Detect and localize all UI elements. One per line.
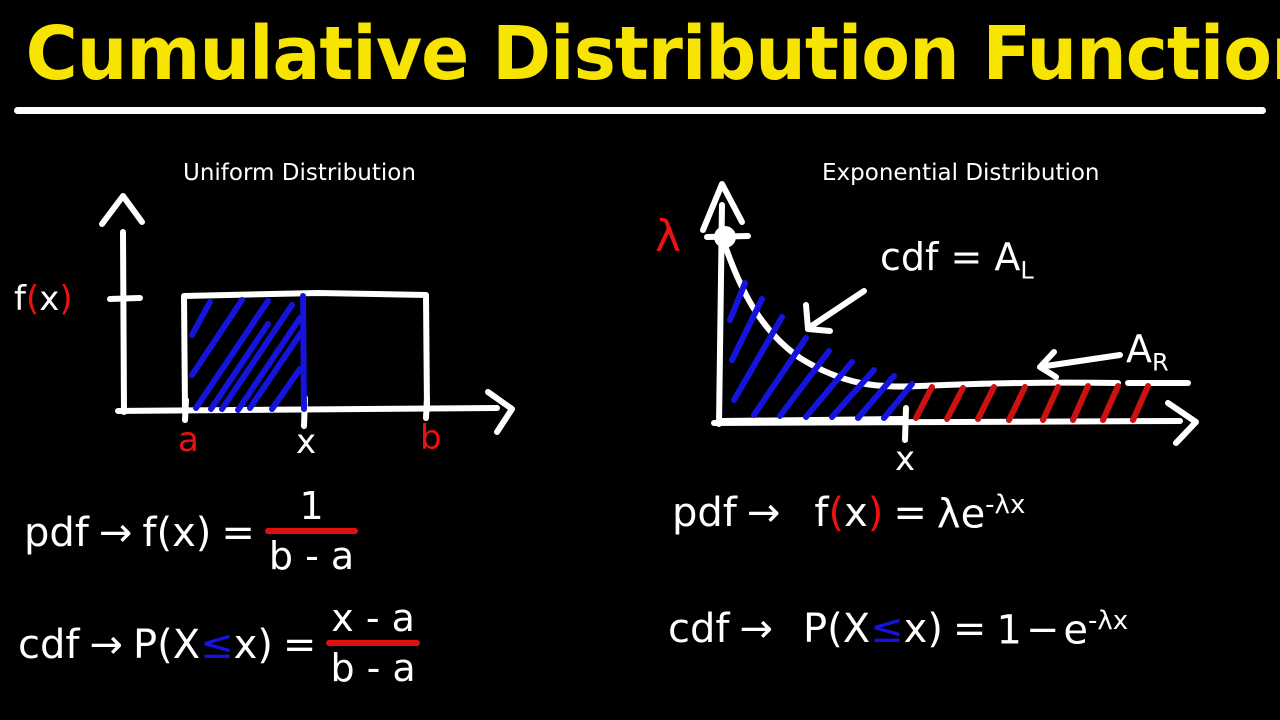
uniform-cdf-denominator: b - a [326,648,419,688]
exponential-cdf-arrow-icon: → [739,609,773,649]
exponential-baseline-left [722,419,905,421]
uniform-tick-label-a: a [178,423,199,457]
exponential-cdf-rhs: 1−e-λx [996,608,1128,650]
exponential-area-left-hatching [730,283,912,418]
uniform-pdf-arrow-icon: → [99,513,133,553]
exponential-cdf-formula: cdf → P(X≤x) = 1−e-λx [668,608,1128,650]
cdf-annotation-arrow [806,291,864,331]
uniform-y-axis-label-paren-open: ( [26,279,39,319]
exponential-pdf-lhs: f(x) [814,493,883,533]
uniform-cdf-numerator: x - a [326,598,419,638]
uniform-cdf-formula: cdf → P(X≤x) = x - a b - a [18,600,420,690]
exponential-tick-x [905,408,906,440]
uniform-y-axis-label-paren-close: ) [59,279,72,319]
uniform-pdf-lhs: f(x) [142,513,211,553]
exponential-y-intercept-dot [714,226,736,248]
exponential-pdf-equals: = [893,493,927,533]
uniform-x-boundary-line [303,296,304,409]
uniform-pdf-fraction: 1 b - a [265,486,358,576]
whiteboard-canvas: Cumulative Distribution Functions Unifor… [0,0,1280,720]
exponential-area-right-hatching [916,386,1148,420]
uniform-tick-label-x: x [296,425,316,459]
uniform-cdf-arrow-icon: → [89,625,123,665]
uniform-y-axis-label: f(x) [14,282,73,316]
area-right-annotation: AR [1126,330,1169,375]
uniform-y-axis-label-f: f [14,279,26,319]
uniform-pdf-equals: = [221,513,255,553]
uniform-pdf-tag: pdf [24,513,89,553]
exponential-pdf-rhs: λe-λx [937,492,1025,534]
uniform-cdf-fraction: x - a b - a [326,598,419,688]
uniform-y-axis-label-var: x [39,279,59,319]
cdf-equals-area-left-annotation: cdf = AL [880,238,1034,283]
uniform-x-axis-arrowhead [488,392,512,432]
exponential-cdf-leq-symbol: ≤ [870,606,904,652]
uniform-fx-tick [110,298,140,299]
exponential-pdf-exponent: -λx [985,490,1025,520]
uniform-y-axis [123,232,124,412]
exponential-cdf-probability-expression: P(X≤x) [803,609,943,649]
uniform-cdf-leq-symbol: ≤ [200,622,234,668]
uniform-cdf-tag: cdf [18,625,79,665]
uniform-y-axis-arrowhead [102,196,142,224]
area-right-annotation-arrow [1040,352,1120,377]
uniform-pdf-numerator: 1 [265,486,358,526]
uniform-cdf-probability-expression: P(X≤x) [133,625,273,665]
exponential-cdf-tag: cdf [668,609,729,649]
uniform-cdf-equals: = [283,625,317,665]
uniform-shaded-area-hatching [192,300,301,410]
exponential-cdf-equals: = [953,609,987,649]
uniform-pdf-formula: pdf → f(x) = 1 b - a [24,488,358,578]
exponential-lambda-label: λ [655,215,681,259]
exponential-cdf-exponent: -λx [1088,606,1128,636]
uniform-tick-label-b: b [420,421,442,455]
cdf-annotation-subscript: L [1020,257,1033,285]
area-right-annotation-subscript: R [1152,349,1169,377]
cdf-annotation-text: cdf = A [880,235,1020,279]
exponential-tick-label-x: x [895,442,915,476]
area-right-annotation-text: A [1126,327,1152,371]
exponential-pdf-tag: pdf [672,493,737,533]
exponential-pdf-formula: pdf → f(x) = λe-λx [672,492,1025,534]
exponential-pdf-arrow-icon: → [747,493,781,533]
uniform-pdf-denominator: b - a [265,536,358,576]
